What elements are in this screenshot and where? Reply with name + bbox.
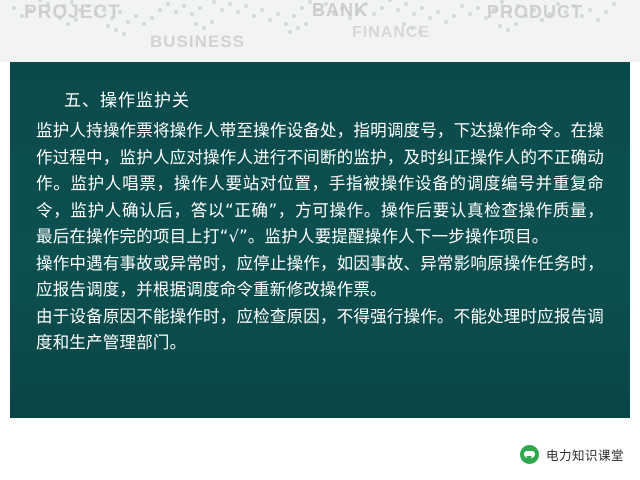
- wechat-official-account-icon: [520, 445, 539, 464]
- body-paragraph-2: 操作中遇有事故或异常时，应停止操作，如因事故、异常影响原操作任务时，应报告调度，…: [36, 251, 604, 304]
- watermark-business: BUSINESS: [150, 32, 245, 52]
- watermark-project: PROJECT: [24, 2, 121, 24]
- top-decoration-band: PROJECT BUSINESS BANK FINANCE PRODUCT: [0, 0, 640, 62]
- slide-canvas: PROJECT BUSINESS BANK FINANCE PRODUCT 五、…: [0, 0, 640, 480]
- footer-badge-label: 电力知识课堂: [546, 445, 624, 464]
- watermark-bank: BANK: [312, 0, 368, 21]
- content-panel: 五、操作监护关 监护人持操作票将操作人带至操作设备处，指明调度号，下达操作命令。…: [10, 62, 630, 418]
- watermark-product: PRODUCT: [487, 2, 583, 23]
- footer-badge: 电力知识课堂: [520, 445, 624, 464]
- body-paragraph-3: 由于设备原因不能操作时，应检查原因，不得强行操作。不能处理时应报告调度和生产管理…: [36, 304, 604, 357]
- body-paragraph-1: 监护人持操作票将操作人带至操作设备处，指明调度号，下达操作命令。在操作过程中，监…: [36, 118, 604, 251]
- section-heading: 五、操作监护关: [64, 88, 604, 114]
- watermark-finance: FINANCE: [352, 24, 430, 42]
